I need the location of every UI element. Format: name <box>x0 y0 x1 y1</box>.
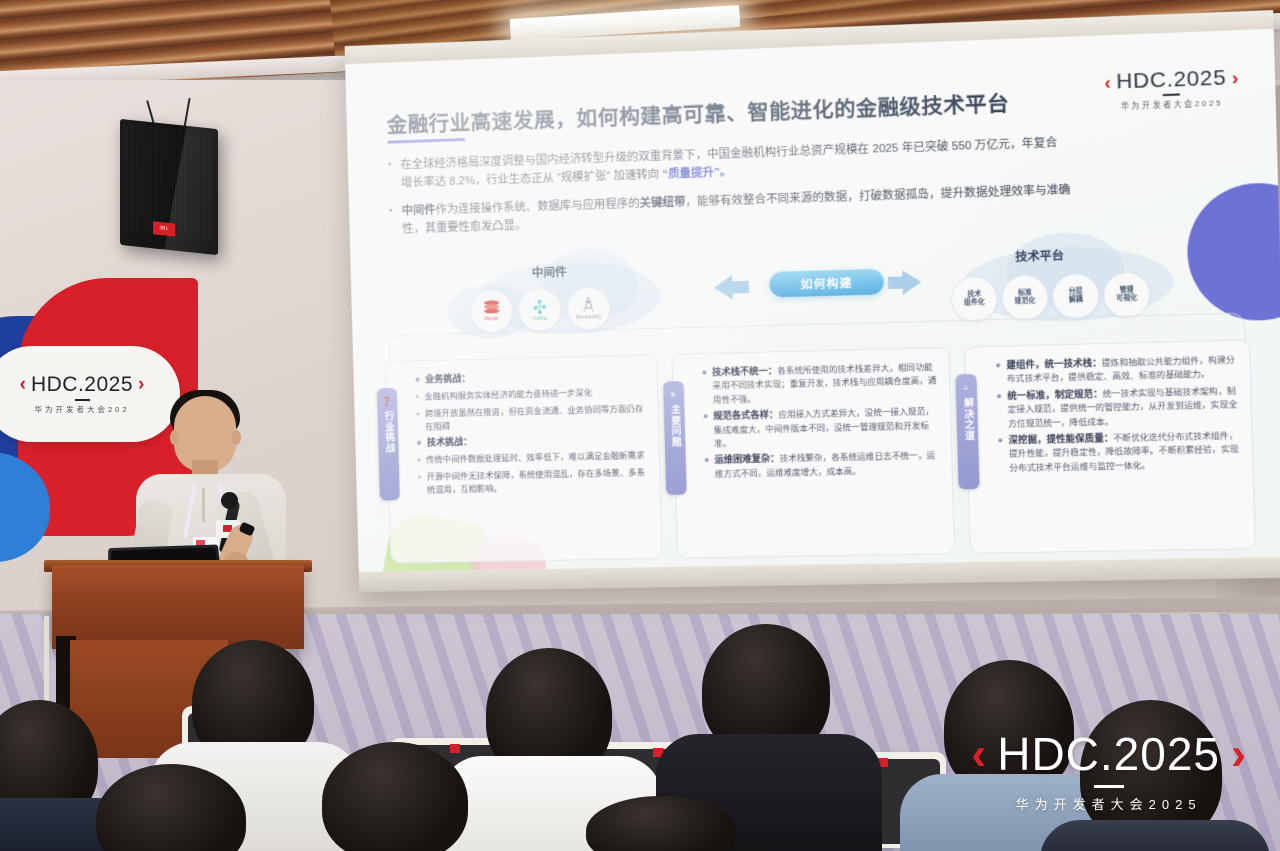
card2-lead-2: 规范各式各样： <box>713 410 778 422</box>
hdc-logo-subtitle: 华为开发者大会2025 <box>1105 96 1239 112</box>
list-lines-icon: ≡ <box>963 381 970 393</box>
list-bullet-icon: ● <box>704 454 710 481</box>
card1-item-2: 跨境开放虽然在推进，但在资金流通、业务协同等方面仍存在阻碍 <box>425 402 648 434</box>
jbl-logo: JBL <box>153 221 175 236</box>
slide-hdc-logo: ‹ HDC.2025 › 华为开发者大会2025 <box>1104 65 1239 113</box>
list-item: ● 技术挑战： <box>416 432 648 451</box>
card3-lead-2: 统一标准，制定规范： <box>1007 388 1103 401</box>
list-bullet-icon: ● <box>995 359 1001 387</box>
middleware-name-rocketmq: RocketMQ <box>576 314 601 321</box>
title-accent-rule <box>387 138 465 144</box>
card2-lead-3: 运维困难复杂： <box>714 454 779 466</box>
platform-circle-4-label: 管理 可视化 <box>1116 286 1138 304</box>
list-item: ● 统一标准，制定规范：统一技术实现与基础技术架构，制定接入规范，提供统一的管控… <box>996 384 1240 431</box>
list-bullet-icon: ● <box>997 434 1004 475</box>
list-item: ● 传统中间件数据处理延时、效率低下，难以满足金融新需求 <box>417 449 649 468</box>
arrow-right-icon <box>902 270 922 295</box>
chevron-left-icon: ‹ <box>971 736 986 772</box>
watermark-subtitle: 华为开发者大会2025 <box>971 794 1246 813</box>
card1-head-1: 业务挑战： <box>425 373 471 384</box>
slide-header: 金融行业高速发展，如何构建高可靠、智能进化的金融级技术平台 ‹ HDC.2025… <box>386 65 1239 138</box>
chevron-right-icon: › <box>138 374 144 396</box>
list-sub-bullet-icon: ● <box>417 453 422 467</box>
hdc-logo-underline <box>1163 93 1180 95</box>
ceiling-speaker: JBL <box>120 119 218 255</box>
standee-logo-text: HDC.2025 <box>31 373 133 397</box>
presenter-shirt-placket <box>202 488 205 522</box>
bullet-2-a: 作为连接操作系统、数据库与应用程序的 <box>435 197 639 216</box>
platform-circle-3-label: 分层 解耦 <box>1068 287 1082 305</box>
chevron-left-icon: ‹ <box>20 374 26 396</box>
presentation-slide: 金融行业高速发展，如何构建高可靠、智能进化的金融级技术平台 ‹ HDC.2025… <box>345 29 1280 572</box>
rocketmq-icon <box>581 296 596 314</box>
card-tab-main-problems: ☀ 主要问题 <box>663 381 687 495</box>
bullet-1-line-2: 增长率达 8.2%，行业生态正从 “规模扩张” 加速转向 <box>401 169 662 190</box>
projection-screen: 金融行业高速发展，如何构建高可靠、智能进化的金融级技术平台 ‹ HDC.2025… <box>345 10 1280 592</box>
bullet-dot-icon: • <box>389 202 394 239</box>
list-item: ● 技术栈不统一：各系统所使用的技术栈差异大，相同功能采用不同技术实现；重复开发… <box>701 361 939 408</box>
bullet-2-lead: 中间件 <box>402 204 436 217</box>
card-tab-industry-challenges: ❓ 行业挑战 <box>377 388 400 501</box>
platform-circle-4: 管理 可视化 <box>1103 271 1151 318</box>
platform-circle-1: 技术 组件化 <box>951 276 999 322</box>
hdc-logo-text: HDC.2025 <box>1116 66 1227 95</box>
card1-head-2: 技术挑战： <box>427 437 473 448</box>
list-sub-bullet-icon: ● <box>415 390 420 404</box>
center-pill-how-to-build[interactable]: 如何构建 <box>769 269 884 298</box>
card3-lead-1: 建组件，统一技术栈： <box>1006 358 1102 371</box>
huawei-chair-logo <box>450 744 460 753</box>
podium-front-panel <box>52 565 304 649</box>
presenter-ear-left <box>170 430 179 445</box>
middleware-name-kafka: Kafka <box>533 315 547 321</box>
card-tab-label: 主要问题 <box>667 404 680 447</box>
list-item: ● 建组件，统一技术栈：提炼和抽取公共能力组件，构建分布式技术平台，提供稳定、高… <box>995 353 1239 387</box>
platform-circle-2-label: 标准 规范化 <box>1014 289 1035 307</box>
card-main-problems: ☀ 主要问题 ● 技术栈不统一：各系统所使用的技术栈差异大，相同功能采用不同技术… <box>671 347 955 559</box>
list-item: ● 业务挑战： <box>414 368 646 387</box>
watermark-underline <box>1094 785 1124 788</box>
middleware-name-redis: Redis <box>485 316 499 322</box>
list-item: ● 规范各式各样：应用接入方式差异大，没统一接入规范，集成难度大，中间件版本不同… <box>703 405 941 451</box>
watermark-hdc-logo: ‹ HDC.2025 › 华为开发者大会2025 <box>971 727 1246 813</box>
list-bullet-icon: ● <box>701 366 708 407</box>
middleware-label: 中间件 <box>532 264 567 281</box>
list-bullet-icon: ● <box>414 373 420 387</box>
kafka-icon <box>531 298 548 315</box>
list-item: ● 跨境开放虽然在推进，但在资金流通、业务协同等方面仍存在阻碍 <box>415 402 647 434</box>
card-industry-challenges: ❓ 行业挑战 ● 业务挑战： ● 金融机构服务实体经济的能力亟待进一步深化 <box>385 354 662 563</box>
list-sub-bullet-icon: ● <box>417 470 422 497</box>
microphone-head <box>221 492 238 509</box>
sun-icon: ☀ <box>669 388 678 400</box>
watermark-logo-text: HDC.2025 <box>997 727 1220 781</box>
chevron-left-icon: ‹ <box>1104 73 1111 93</box>
audience-member-head <box>322 742 468 851</box>
platform-label: 技术平台 <box>1015 247 1064 265</box>
bullet-dot-icon: • <box>388 156 393 193</box>
slide-title: 金融行业高速发展，如何构建高可靠、智能进化的金融级技术平台 <box>386 86 1009 139</box>
audience-member-body <box>1040 820 1270 851</box>
card1-item-1: 金融机构服务实体经济的能力亟待进一步深化 <box>424 386 592 404</box>
bullet-2-line-2: 性，其重要性愈发凸显。 <box>402 220 526 236</box>
card-tab-solutions: ≡ 解决之道 <box>956 374 980 489</box>
chevron-right-icon: › <box>1231 736 1246 772</box>
list-bullet-icon: ● <box>703 410 710 451</box>
bullet-2-c: ，能够有效整合不同来源的数据，打破数据孤岛，提升数据处理效率与准确 <box>685 183 1070 207</box>
standee-logo-subtitle: 华为开发者大会202 <box>34 404 129 415</box>
bullet-2-bold: 关键纽带 <box>639 196 685 210</box>
bullet-1-highlight: “质量提升”。 <box>662 166 731 180</box>
question-mark-icon: ❓ <box>381 395 393 407</box>
redis-icon <box>482 300 500 316</box>
card-tab-label: 行业挑战 <box>381 411 394 453</box>
standee-logo-underline <box>75 399 90 401</box>
chevron-right-icon: › <box>1231 68 1238 88</box>
slide-bullet-list: • 在全球经济格局深度调整与国内经济转型升级的双重背景下，中国金融机构行业总资产… <box>388 127 1243 239</box>
list-item: ● 运维困难复杂：技术栈繁杂，各系统运维日志不统一，运维方式不同，运维难度增大，… <box>704 449 942 481</box>
arrow-left-icon <box>714 275 733 300</box>
platform-circle-1-label: 技术 组件化 <box>964 290 985 308</box>
card2-lead-1: 技术栈不统一： <box>712 366 777 378</box>
list-bullet-icon: ● <box>996 390 1003 431</box>
card-tab-label: 解决之道 <box>961 398 975 441</box>
card1-item-4: 开源中间件无技术保障，系统使用混乱，存在多场景、多系统混用，互相影响。 <box>426 466 649 497</box>
list-item: ● 金融机构服务实体经济的能力亟待进一步深化 <box>415 384 647 404</box>
arrow-left-bar <box>732 281 749 294</box>
arrow-right-bar <box>888 276 905 289</box>
list-item: ● 深挖掘，提性能保质量：不断优化迭代分布式技术组件，提升性能，提升稳定性，降低… <box>997 429 1241 476</box>
card3-lead-3: 深挖掘，提性能保质量： <box>1008 433 1113 446</box>
card1-item-3: 传统中间件数据处理延时、效率低下，难以满足金融新需求 <box>426 449 645 468</box>
slide-cards: ❓ 行业挑战 ● 业务挑战： ● 金融机构服务实体经济的能力亟待进一步深化 <box>385 339 1256 563</box>
list-item: ● 开源中间件无技术保障，系统使用混乱，存在多场景、多系统混用，互相影响。 <box>417 466 649 498</box>
card-solutions: ≡ 解决之道 ● 建组件，统一技术栈：提炼和抽取公共能力组件，构建分布式技术平台… <box>964 339 1255 554</box>
conference-photo: JBL 金融行业高速发展，如何构建高可靠、智能进化的金融级技术平台 ‹ HDC.… <box>0 0 1280 851</box>
list-sub-bullet-icon: ● <box>415 407 420 434</box>
list-bullet-icon: ● <box>416 437 422 451</box>
presenter-ear-right <box>232 430 241 445</box>
